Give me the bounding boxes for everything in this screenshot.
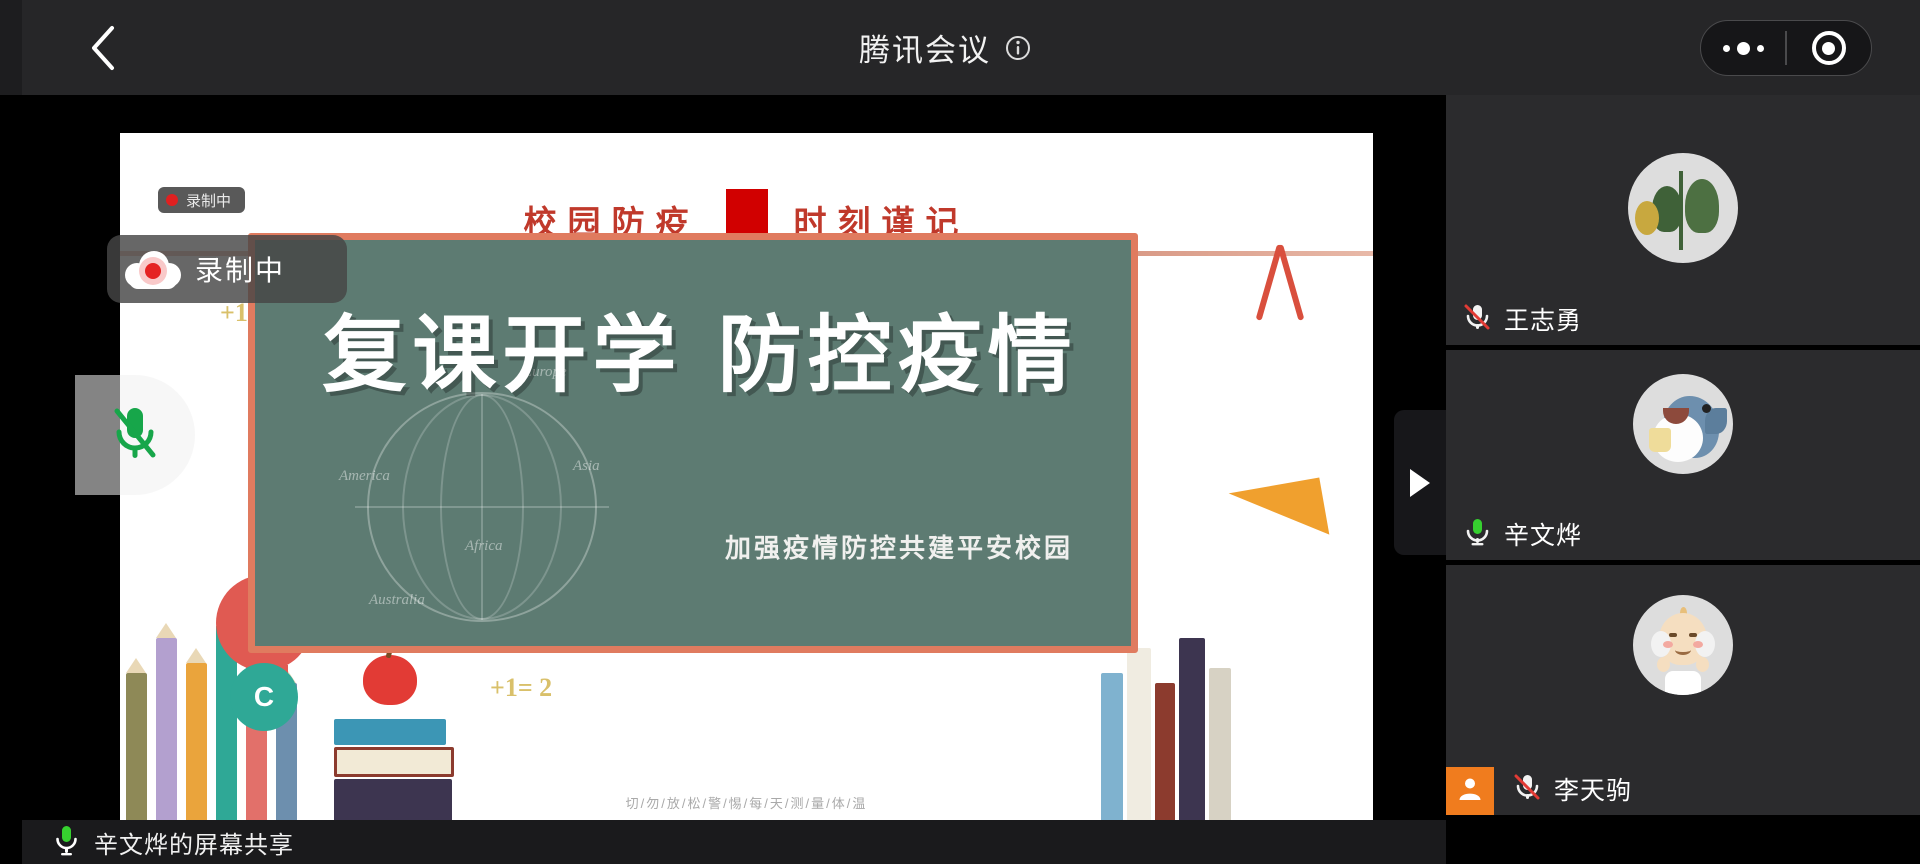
header-title-group: 腾讯会议 xyxy=(0,0,1920,95)
chalk-label-africa: Africa xyxy=(465,538,503,555)
avatar xyxy=(1633,374,1733,474)
chalk-label-australia: Australia xyxy=(369,592,425,609)
slide-subtitle: 加强疫情防控共建平安校园 xyxy=(725,528,1073,565)
expand-panel-tab[interactable] xyxy=(1394,410,1446,555)
chalk-label-america: America xyxy=(339,468,390,485)
compass-leg-1 xyxy=(1256,244,1283,321)
red-dot-icon xyxy=(166,194,178,206)
participant-tile-2[interactable]: 辛文烨 xyxy=(1446,350,1920,560)
more-menu-button[interactable] xyxy=(1701,21,1785,75)
globe-ellipse-2 xyxy=(402,394,562,620)
participant-name-row: 辛文烨 xyxy=(1462,516,1582,552)
participant-tile-1[interactable]: 王志勇 xyxy=(1446,95,1920,345)
recording-overlay-label: 录制中 xyxy=(195,249,285,289)
apple-decoration xyxy=(363,655,417,705)
mic-on-icon xyxy=(1462,517,1492,552)
info-circle-icon[interactable] xyxy=(1005,35,1031,61)
participant-name: 李天驹 xyxy=(1554,771,1632,807)
recording-indicator-overlay[interactable]: 录制中 xyxy=(107,235,347,303)
participant-tile-3[interactable]: 李天驹 xyxy=(1446,565,1920,815)
book-2 xyxy=(334,747,454,777)
compass-leg-2 xyxy=(1277,244,1304,321)
ruler-decoration xyxy=(1229,477,1330,550)
page-title: 腾讯会议 xyxy=(859,25,991,70)
math-doodle-2: +1= 2 xyxy=(490,673,552,703)
triangle-right-icon xyxy=(1410,469,1430,497)
compass-decoration xyxy=(1245,245,1315,331)
participant-name-row: 李天驹 xyxy=(1512,771,1632,807)
avatar xyxy=(1628,153,1738,263)
cloud-record-icon xyxy=(125,249,181,289)
ellipsis-icon-dot-3 xyxy=(1757,45,1764,52)
participant-name: 辛文烨 xyxy=(1504,516,1582,552)
chalk-label-asia: Asia xyxy=(573,458,600,475)
slide-footnote: 切/勿/放/松/警/惕/每/天/测/量/体/温 xyxy=(120,793,1373,812)
participant-name: 王志勇 xyxy=(1504,301,1582,337)
chalkboard: Europe America Asia Africa Australia 复课开… xyxy=(248,233,1138,653)
host-badge xyxy=(1446,767,1494,815)
recording-inner-label: 录制中 xyxy=(186,190,231,211)
app-header: 腾讯会议 xyxy=(0,0,1920,95)
book-1 xyxy=(334,719,446,745)
screen-share-owner-label: 辛文烨的屏幕共享 xyxy=(94,825,294,860)
screen-share-status-bar: 辛文烨的屏幕共享 xyxy=(22,820,1446,864)
shared-screen-stage[interactable]: 校园防疫 时刻谨记 xyxy=(22,95,1446,820)
speech-bubble-teal: C xyxy=(230,663,298,731)
bubble-glyph-c: C xyxy=(254,681,274,713)
target-circle-icon xyxy=(1812,31,1846,65)
avatar xyxy=(1633,595,1733,695)
globe-doodle xyxy=(367,392,597,622)
mic-muted-icon xyxy=(106,402,164,469)
mic-muted-icon xyxy=(1462,302,1492,337)
floating-mic-button[interactable] xyxy=(75,375,195,495)
recording-indicator-inner: 录制中 xyxy=(158,187,245,213)
ellipsis-icon-dot-1 xyxy=(1723,45,1730,52)
slide-title: 复课开学 防控疫情 xyxy=(255,288,1138,409)
ellipsis-icon-dot-2 xyxy=(1737,42,1750,55)
participants-sidebar[interactable]: 王志勇 辛文烨 xyxy=(1446,95,1920,864)
miniprogram-capsule xyxy=(1700,20,1872,76)
participant-name-row: 王志勇 xyxy=(1462,301,1582,337)
mic-muted-icon xyxy=(1512,772,1542,807)
person-icon xyxy=(1456,775,1484,808)
close-miniprogram-button[interactable] xyxy=(1787,21,1871,75)
mic-on-icon xyxy=(54,824,78,861)
